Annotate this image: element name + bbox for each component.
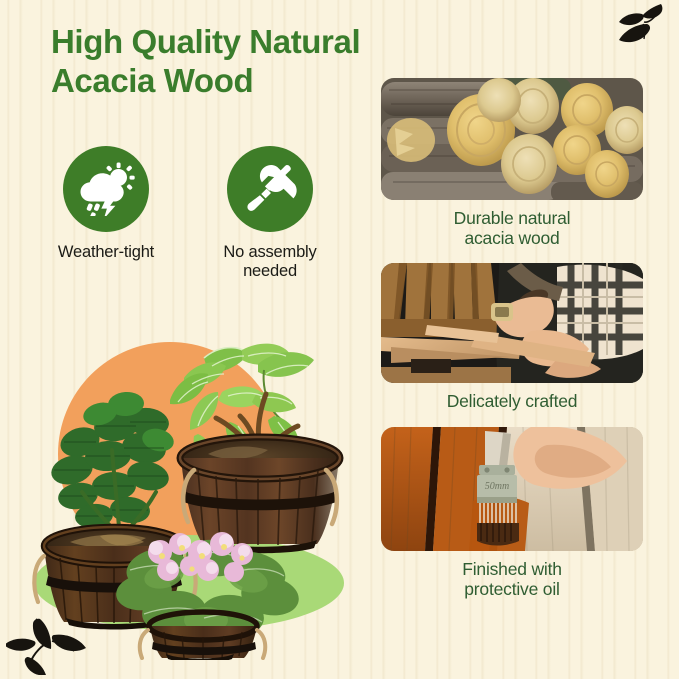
feature-badge-circle (63, 146, 149, 232)
card-caption-line-2: protective oil (381, 579, 643, 599)
feature-photo-card-list: Durable natural acacia wood (381, 78, 643, 604)
feature-label: Weather-tight (58, 243, 154, 262)
card-caption-line-2: acacia wood (381, 228, 643, 248)
card-caption-line-1: Delicately crafted (381, 391, 643, 411)
brush-size-label: 50mm (485, 481, 509, 492)
leaf-sprig-top-right (603, 2, 665, 62)
fiddle-leaf-fig-plant (48, 391, 176, 542)
page-title-line-2: Acacia Wood (51, 62, 381, 101)
card-caption-line-1: Durable natural (381, 208, 643, 228)
card-finished-with-protective-oil: 50mm (381, 427, 643, 600)
feature-label-line-2: needed (223, 262, 316, 281)
product-infographic: High Quality Natural Acacia Wood (0, 0, 679, 679)
card-caption: Delicately crafted (381, 391, 643, 411)
brush-applying-oil-to-deck-photo: 50mm (381, 427, 643, 551)
stacked-cut-acacia-logs-photo (381, 78, 643, 200)
feature-weather-tight: Weather-tight (38, 146, 174, 281)
leaf-sprig-bottom-left (6, 601, 86, 675)
feature-badge-list: Weather-tight (38, 146, 338, 281)
wrench-screwdriver-icon (242, 161, 298, 217)
card-caption: Finished with protective oil (381, 559, 643, 600)
storm-cloud-sun-icon (77, 162, 135, 216)
feature-no-assembly: No assembly needed (202, 146, 338, 281)
card-delicately-crafted: Delicately crafted (381, 263, 643, 411)
feature-label-line-1: Weather-tight (58, 243, 154, 261)
craftsman-measuring-wood-photo (381, 263, 643, 383)
card-caption-line-1: Finished with (381, 559, 643, 579)
page-title-line-1: High Quality Natural (51, 23, 381, 62)
card-durable-natural-acacia-wood: Durable natural acacia wood (381, 78, 643, 249)
page-title: High Quality Natural Acacia Wood (51, 23, 381, 100)
card-caption: Durable natural acacia wood (381, 208, 643, 249)
feature-label-line-1: No assembly (223, 243, 316, 262)
feature-label: No assembly needed (223, 243, 316, 281)
feature-badge-circle (227, 146, 313, 232)
